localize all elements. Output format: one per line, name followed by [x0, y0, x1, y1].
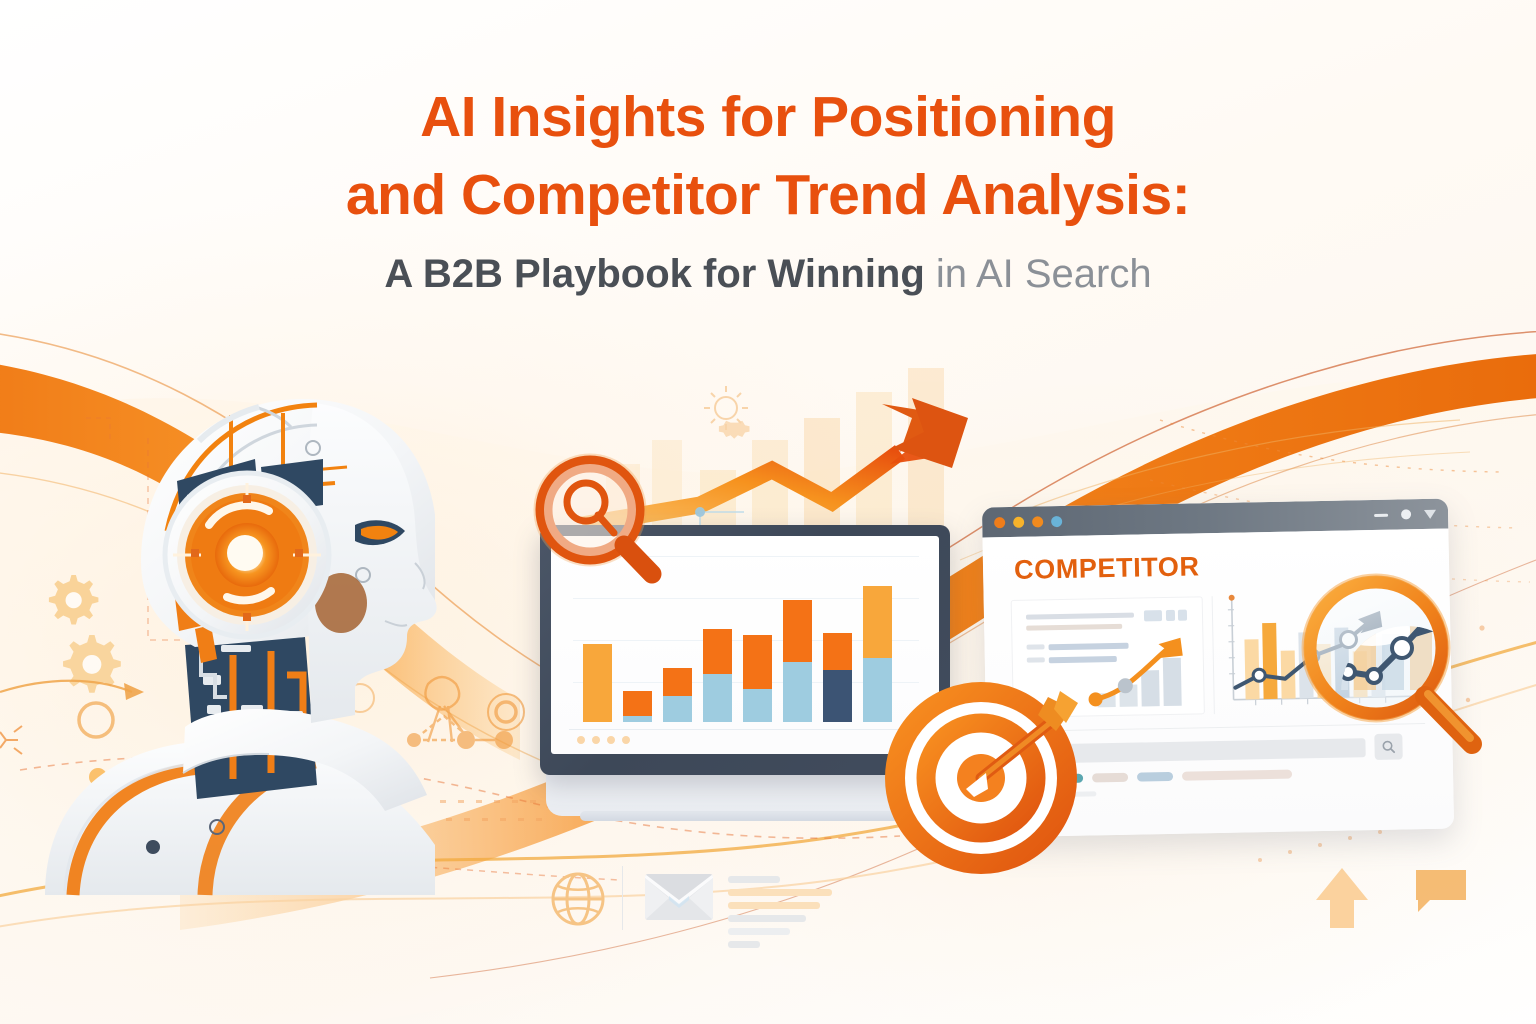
traffic-light-dot[interactable]: [1013, 516, 1024, 527]
bar-segment-top: [703, 629, 732, 674]
filter-tag[interactable]: [1092, 773, 1128, 783]
traffic-light-dot[interactable]: [1051, 515, 1062, 526]
filter-tag[interactable]: [1137, 772, 1173, 782]
bar-chart-bar: [583, 644, 612, 722]
bar-segment-bottom: [663, 696, 692, 722]
bar-chart-bar: [823, 633, 852, 722]
maximize-icon[interactable]: [1401, 509, 1411, 519]
page-subtitle: A B2B Playbook for Winning in AI Search: [0, 248, 1536, 300]
status-dot: [622, 736, 630, 744]
close-icon[interactable]: [1424, 509, 1436, 518]
placeholder-line: [728, 876, 780, 883]
target-icon: [888, 685, 1074, 871]
subtitle-bold-part: A B2B Playbook for Winning: [384, 252, 924, 296]
traffic-light-dot[interactable]: [1032, 516, 1043, 527]
bar-segment-top: [823, 633, 852, 670]
traffic-light-dot[interactable]: [994, 517, 1005, 528]
robot-head-icon: [55, 375, 455, 895]
bar-segment-bottom: [623, 716, 652, 722]
browser-heading: COMPETITOR: [1014, 551, 1200, 586]
status-dot: [607, 736, 615, 744]
bar-chart-bar: [663, 668, 692, 722]
globe-icon: [548, 870, 608, 928]
placeholder-line: [728, 941, 760, 948]
bar-segment-top: [623, 691, 652, 716]
magnifier-icon: [528, 450, 678, 600]
bar-segment-top: [583, 644, 612, 722]
placeholder-line: [728, 928, 790, 935]
bar-segment-bottom: [703, 674, 732, 722]
filter-tag[interactable]: [1182, 770, 1292, 781]
bar-segment-top: [863, 586, 892, 658]
bar-chart-bar: [623, 691, 652, 722]
bar-chart-bar: [783, 600, 812, 722]
headline-block: AI Insights for Positioning and Competit…: [0, 78, 1536, 300]
strip-divider: [622, 866, 623, 930]
poster-canvas: AI Insights for Positioning and Competit…: [0, 0, 1536, 1024]
status-dot: [592, 736, 600, 744]
panel-divider: [1212, 596, 1215, 714]
bar-chart-bar: [703, 629, 732, 722]
bar-segment-bottom: [823, 670, 852, 722]
placeholder-line: [728, 915, 806, 922]
traffic-light-dots[interactable]: [994, 515, 1062, 527]
screen-status-dots: [577, 736, 630, 744]
bar-segment-bottom: [783, 662, 812, 722]
status-dot: [577, 736, 585, 744]
placeholder-line: [728, 902, 820, 909]
atom-icon: [704, 386, 750, 439]
bottom-icon-strip: [540, 862, 840, 934]
page-title-line-2: and Competitor Trend Analysis:: [0, 156, 1536, 234]
bar-segment-bottom: [743, 689, 772, 722]
magnifier-icon: [1290, 568, 1505, 783]
monitor-footbar: [580, 811, 910, 821]
envelope-icon: [645, 874, 713, 920]
bar-chart-bar: [743, 635, 772, 722]
page-title-line-1: AI Insights for Positioning: [0, 78, 1536, 156]
text-placeholder-lines: [728, 876, 840, 954]
placeholder-line: [728, 889, 832, 896]
window-controls[interactable]: [1374, 509, 1436, 520]
chart-baseline: [569, 729, 925, 730]
minimize-icon[interactable]: [1374, 513, 1388, 516]
bar-segment-top: [743, 635, 772, 689]
subtitle-light-part: in AI Search: [925, 252, 1152, 296]
bar-segment-top: [783, 600, 812, 662]
bar-segment-top: [663, 668, 692, 696]
